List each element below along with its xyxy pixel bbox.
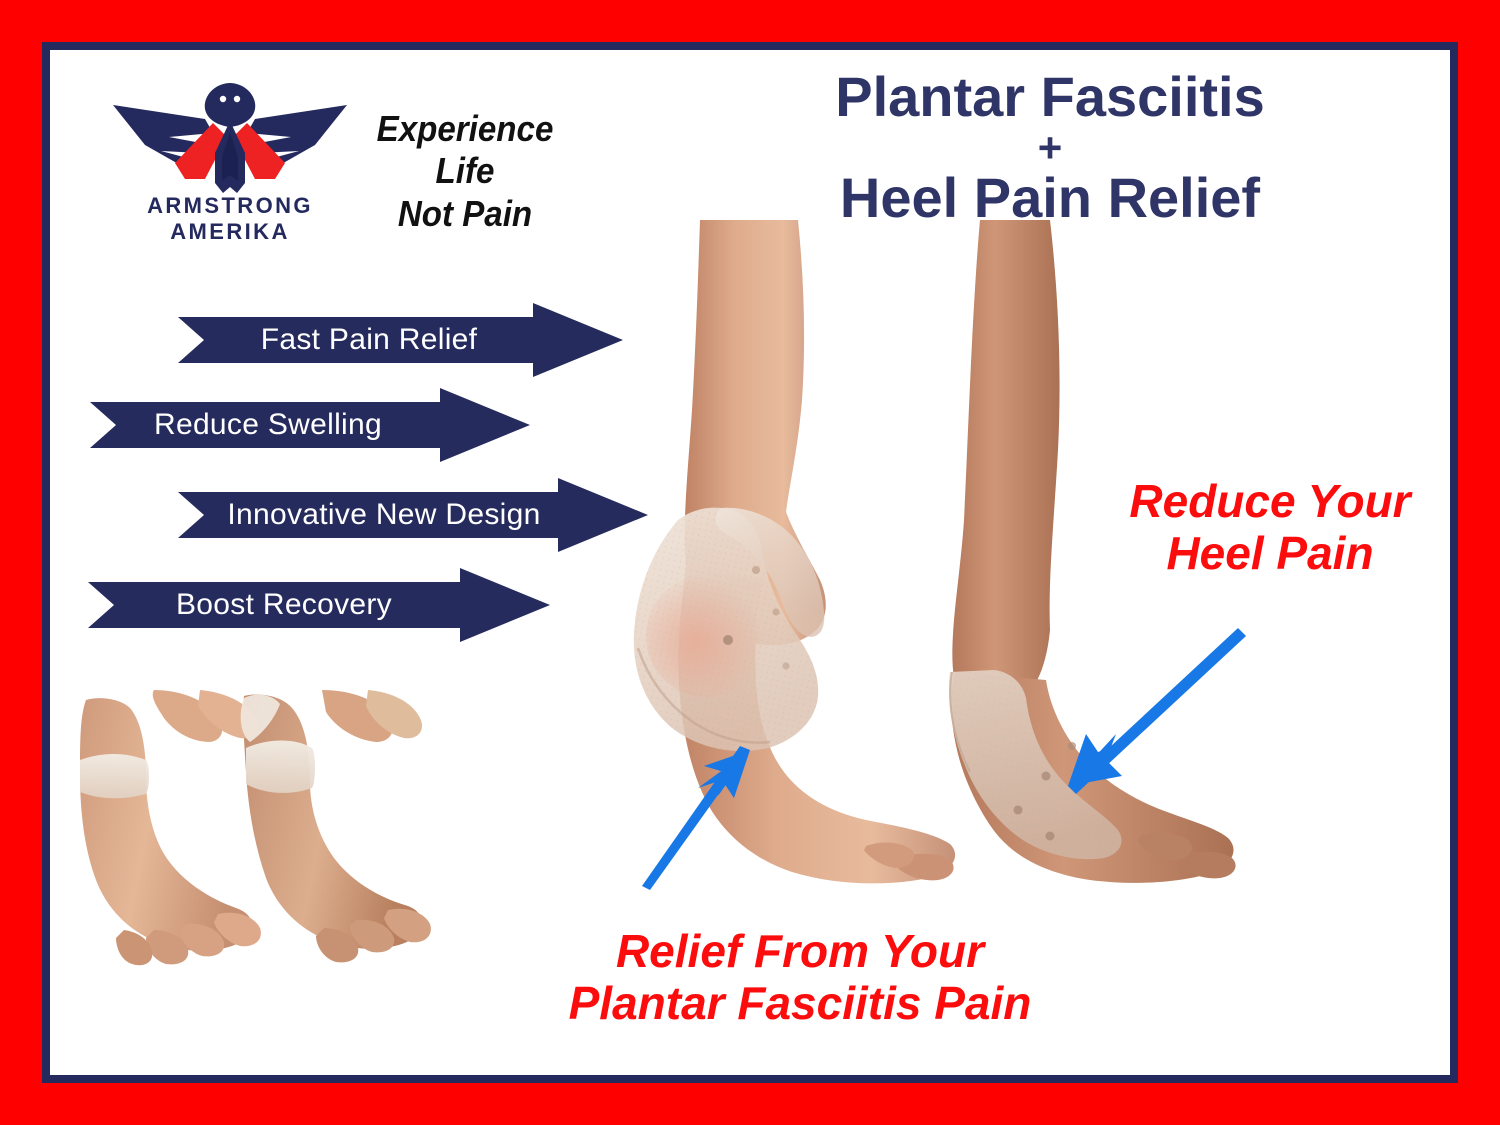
- callout-plantar-fasciitis-relief: Relief From Your Plantar Fasciitis Pain: [530, 925, 1070, 1030]
- brand-logo: ARMSTRONG AMERIKA: [105, 75, 355, 235]
- feature-banner-fast-pain-relief: Fast Pain Relief: [178, 303, 623, 377]
- headline-line-2: Heel Pain Relief: [700, 169, 1400, 228]
- brand-name: ARMSTRONG AMERIKA: [105, 193, 355, 245]
- product-photo-inset: [68, 690, 468, 1020]
- callout-bottom-line-2: Plantar Fasciitis Pain: [530, 977, 1070, 1029]
- feature-banner-innovative-new-design: Innovative New Design: [178, 478, 648, 552]
- callout-right-line-2: Heel Pain: [1095, 527, 1445, 579]
- feature-banner-reduce-swelling: Reduce Swelling: [90, 388, 530, 462]
- brand-tagline: Experience Life Not Pain: [345, 108, 584, 235]
- eagle-logo-icon: [105, 75, 355, 205]
- poster-panel: ARMSTRONG AMERIKA Experience Life Not Pa…: [50, 50, 1450, 1075]
- poster-frame: ARMSTRONG AMERIKA Experience Life Not Pa…: [42, 42, 1458, 1083]
- tagline-line-2: Not Pain: [345, 193, 584, 235]
- callout-right-line-1: Reduce Your: [1095, 475, 1445, 527]
- callout-bottom-line-1: Relief From Your: [530, 925, 1070, 977]
- headline-plus: +: [700, 127, 1400, 169]
- callout-reduce-heel-pain: Reduce Your Heel Pain: [1095, 475, 1445, 580]
- feature-banner-boost-recovery: Boost Recovery: [88, 568, 550, 642]
- tagline-line-1: Experience Life: [345, 108, 584, 193]
- headline-line-1: Plantar Fasciitis: [700, 68, 1400, 127]
- page-title: Plantar Fasciitis + Heel Pain Relief: [700, 68, 1400, 228]
